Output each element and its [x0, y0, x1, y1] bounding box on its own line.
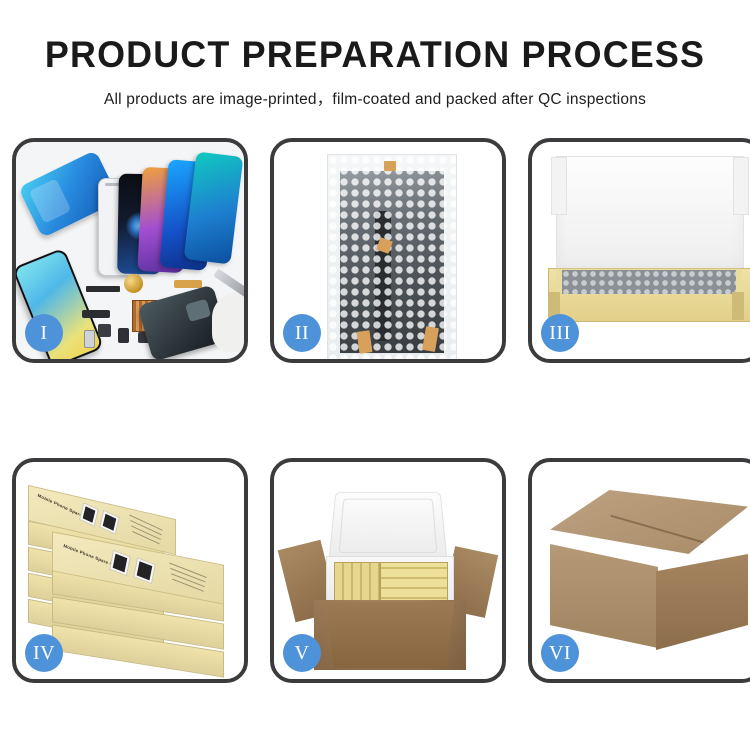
tape-piece-icon [384, 161, 396, 171]
carton-front-panel [320, 602, 460, 668]
bubble-wrapped-contents [562, 270, 736, 294]
phone-screen-fan [94, 154, 244, 274]
box-thumbnail [109, 550, 131, 577]
step-badge-5: V [283, 634, 321, 672]
flex-cable-part-icon [174, 280, 202, 288]
white-box-lid [556, 156, 744, 278]
step-badge-6: VI [541, 634, 579, 672]
step-badge-4: IV [25, 634, 63, 672]
box-thumbnail [99, 510, 120, 535]
page-title: PRODUCT PREPARATION PROCESS [11, 36, 739, 73]
flex-cable-part-icon [82, 310, 110, 318]
box-thumbnail [133, 557, 156, 584]
page-header: PRODUCT PREPARATION PROCESS All products… [0, 0, 750, 109]
page-subtitle: All products are image-printed，film-coat… [0, 87, 750, 109]
step-card-1: I [12, 138, 248, 363]
coil-part-icon [124, 274, 143, 293]
step-badge-2: II [283, 314, 321, 352]
step-card-2: II [270, 138, 506, 363]
step-card-4: Mobile Phone Spare Parts Mobile Phone Sp… [12, 458, 248, 683]
step-card-5: V [270, 458, 506, 683]
box-side-right [732, 292, 744, 320]
step-badge-1: I [25, 314, 63, 352]
small-part-icon [98, 324, 111, 337]
step-card-3: III [528, 138, 750, 363]
bar-part-icon [86, 286, 120, 292]
bubble-wrap-package [327, 154, 457, 359]
step-badge-3: III [541, 314, 579, 352]
sim-tray-part-icon [84, 330, 95, 348]
small-part-icon [118, 328, 129, 343]
box-thumbnail [79, 502, 99, 527]
foam-lid [328, 492, 448, 563]
hand-icon [212, 292, 244, 352]
process-steps-grid: I II III [12, 138, 738, 683]
step-card-6: VI [528, 458, 750, 683]
